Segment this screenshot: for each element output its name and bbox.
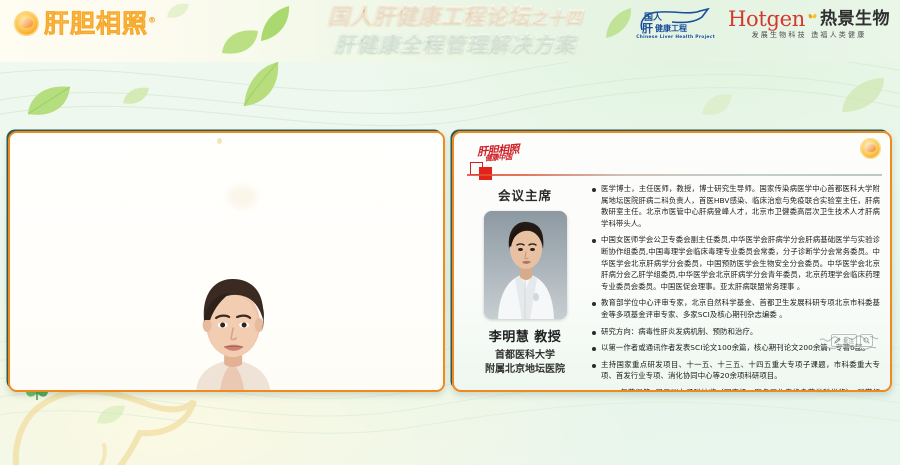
stamp-line2: 健康中国 xyxy=(485,152,512,163)
bio-bullet-item: 教育部学位中心评审专家，北京自然科学基金、首都卫生发展科研专项北京市科委基金等多… xyxy=(592,297,880,320)
company-logo: Hotgen 热景生物 发展生物科技 造福人类健康 xyxy=(728,9,890,39)
video-artifact xyxy=(227,185,257,209)
bio-bullet-text: 教育部学位中心评审专家，北京自然科学基金、首都卫生发展科研专项北京市科委基金等多… xyxy=(601,297,880,320)
green-leaf-icon xyxy=(220,28,260,56)
bullet-dot-icon xyxy=(592,188,596,192)
company-name-cn: 热景生物 xyxy=(820,11,890,28)
forum-title-line2: 肝健康全程管理解决方案 xyxy=(285,32,625,57)
brand-logo: 肝胆相照® xyxy=(14,11,157,36)
project-logo-mark: 国人 肝 健康工程 xyxy=(638,8,714,35)
header-divider xyxy=(467,174,882,176)
green-leaf-icon xyxy=(96,404,126,426)
slide-share-panel[interactable]: 肝胆相照 健康中国 会议主席 xyxy=(452,131,892,392)
sponsor-logos: 国人 肝 健康工程 Chinese Liver Health Project H… xyxy=(636,8,890,40)
page-header: 肝胆相照® 国人肝健康工程论坛之十四 肝健康全程管理解决方案 国人 肝 健康工程… xyxy=(0,0,900,62)
green-leaf-icon xyxy=(122,86,150,106)
forum-title-line1: 国人肝健康工程论坛之十四 xyxy=(285,4,625,31)
bio-bullet-text: 主持国家重点研发项目、十一五、十三五、十四五重大专项子课题，市科委重大专项、首发… xyxy=(601,359,880,382)
chair-block: 会议主席 xyxy=(466,185,584,377)
annotate-button[interactable]: 批注 xyxy=(831,334,857,347)
video-artifact xyxy=(217,138,222,144)
company-tagline: 发展生物科技 造福人类健康 xyxy=(752,32,867,39)
company-name-en: Hotgen xyxy=(728,9,805,30)
bullet-dot-icon xyxy=(592,331,596,335)
zoom-icon[interactable] xyxy=(860,334,873,347)
chair-organization: 首都医科大学 附属北京地坛医院 xyxy=(466,349,584,377)
green-leaf-icon xyxy=(166,2,190,20)
bio-bullet-text: 中国女医师学会公卫专委会副主任委员,中华医学会肝病学分会肝病基础医学与实验诊断协… xyxy=(601,234,880,292)
project-logo-en: Chinese Liver Health Project xyxy=(636,36,715,40)
bio-bullet-item: 中国女医师学会公卫专委会副主任委员,中华医学会肝病学分会肝病基础医学与实验诊断协… xyxy=(592,234,880,292)
bullet-dot-icon xyxy=(592,347,596,351)
speaker-video-panel[interactable] xyxy=(8,131,445,392)
bullet-dot-icon xyxy=(592,302,596,306)
speaker-portrait xyxy=(168,268,296,390)
bullet-dot-icon xyxy=(592,239,596,243)
trademark-mark: ® xyxy=(148,16,157,25)
green-leaf-icon xyxy=(240,60,282,110)
magnifier-icon xyxy=(863,337,870,344)
bio-bullet-text: 医学博士，主任医师，教授，博士研究生导师。国家传染病医学中心首都医科大学附属地坛… xyxy=(601,183,880,229)
annotate-toolbar[interactable]: 批注 xyxy=(828,333,876,348)
bio-bullet-text: 2023年获得第8届五洲女子科技奖（国家级、医务工作者终身荣誉科学奖）；所带领团… xyxy=(601,387,880,392)
project-logo: 国人 肝 健康工程 Chinese Liver Health Project xyxy=(636,8,715,40)
bullet-dot-icon xyxy=(592,364,596,368)
brand-name: 肝胆相照® xyxy=(44,11,157,36)
video-surface xyxy=(10,133,443,390)
chair-portrait-photo xyxy=(484,211,567,319)
green-leaf-icon xyxy=(700,92,734,118)
chair-name: 李明慧 教授 xyxy=(466,326,584,345)
pen-annotate-icon xyxy=(834,337,841,344)
chair-role-label: 会议主席 xyxy=(466,185,584,204)
svg-text:健康工程: 健康工程 xyxy=(655,23,687,33)
bio-bullet-item: 主持国家重点研发项目、十一五、十三五、十四五重大专项子课题，市科委重大专项、首发… xyxy=(592,359,880,382)
butterfly-icon xyxy=(808,12,817,20)
svg-text:肝: 肝 xyxy=(642,22,653,35)
liver-circle-icon xyxy=(860,138,881,159)
annotate-label: 批注 xyxy=(843,337,854,345)
bio-bullet-text: 研究方向：病毒性肝炎发病机制、预防和治疗。 xyxy=(601,326,757,338)
liver-circle-icon xyxy=(14,11,39,36)
bio-bullet-item: 医学博士，主任医师，教授，博士研究生导师。国家传染病医学中心首都医科大学附属地坛… xyxy=(592,183,880,229)
forum-title-block: 国人肝健康工程论坛之十四 肝健康全程管理解决方案 xyxy=(285,4,625,57)
bio-bullet-item: 2023年获得第8届五洲女子科技奖（国家级、医务工作者终身荣誉科学奖）；所带领团… xyxy=(592,387,880,392)
chair-org-line1: 首都医科大学 xyxy=(466,349,584,363)
green-leaf-icon xyxy=(840,74,886,114)
presentation-stage: 肝胆相照® 国人肝健康工程论坛之十四 肝健康全程管理解决方案 国人 肝 健康工程… xyxy=(0,0,900,465)
green-leaf-icon xyxy=(26,84,72,118)
chair-portrait-illustration xyxy=(484,211,567,319)
bio-bullet-list: 医学博士，主任医师，教授，博士研究生导师。国家传染病医学中心首都医科大学附属地坛… xyxy=(592,183,880,382)
chair-org-line2: 附属北京地坛医院 xyxy=(466,363,584,377)
